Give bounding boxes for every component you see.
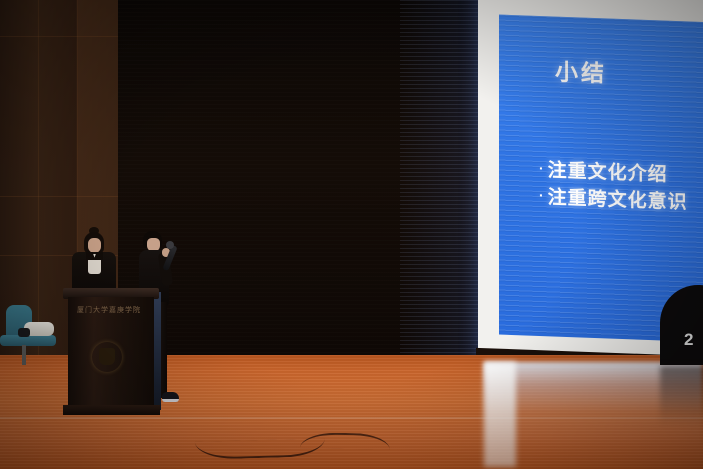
bullet-marker: · (539, 187, 545, 203)
presenter-one-face (88, 238, 101, 253)
screen-reflection-highlight (484, 362, 516, 467)
bullet-text: 注重跨文化意识 (548, 187, 688, 213)
list-item: ·注重跨文化意识 (539, 183, 703, 219)
bullet-text: 注重文化介绍 (548, 160, 668, 185)
presentation-hall-photo: 小结 ·注重文化介绍 ·注重跨文化意识 (0, 0, 703, 469)
slide-bullet-list: ·注重文化介绍 ·注重跨文化意识 (539, 156, 703, 219)
university-seal-icon (92, 342, 122, 372)
silhouette-reflection (660, 366, 703, 426)
wall-panel-seam (38, 0, 39, 360)
shoe-sole (162, 399, 179, 402)
items-on-chair (18, 328, 30, 337)
microphone-head-icon (166, 241, 174, 249)
bullet-marker: · (539, 160, 545, 176)
slide-title: 小结 (555, 53, 607, 89)
podium-base (63, 405, 160, 415)
podium-inscription: 厦门大学嘉庚学院 (70, 305, 148, 315)
chair-leg (22, 345, 26, 365)
silhouette-marking: 2 (684, 330, 700, 350)
presenter-two-shoe (162, 392, 179, 402)
